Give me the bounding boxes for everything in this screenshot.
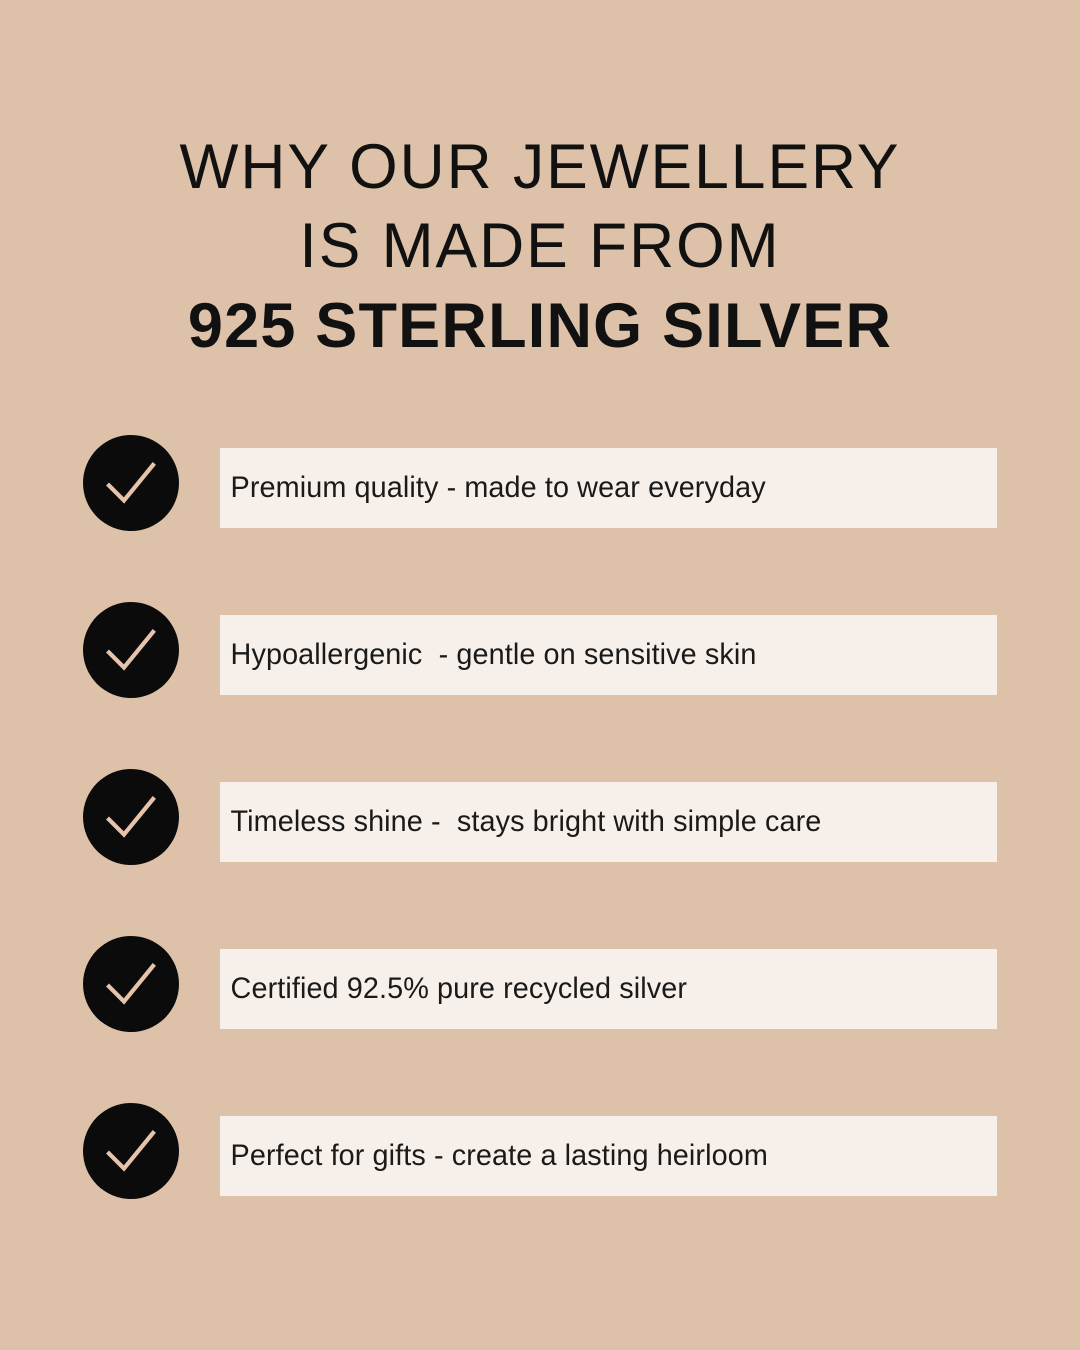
check-icon	[83, 1103, 179, 1199]
list-item: Certified 92.5% pure recycled silver	[0, 936, 1080, 1032]
check-icon	[83, 602, 179, 698]
headline-line-2: IS MADE FROM	[5, 207, 1074, 286]
poster-canvas: WHY OUR JEWELLERY IS MADE FROM 925 STERL…	[0, 0, 1080, 1350]
benefit-bar: Certified 92.5% pure recycled silver	[220, 949, 997, 1029]
benefit-label: Timeless shine - stays bright with simpl…	[220, 805, 821, 839]
list-item: Premium quality - made to wear everyday	[0, 435, 1080, 531]
page-title: WHY OUR JEWELLERY IS MADE FROM 925 STERL…	[0, 128, 1080, 366]
headline-line-1: WHY OUR JEWELLERY	[5, 128, 1074, 207]
list-item: Perfect for gifts - create a lasting hei…	[0, 1103, 1080, 1199]
benefit-bar: Premium quality - made to wear everyday	[220, 448, 997, 528]
benefit-label: Premium quality - made to wear everyday	[220, 471, 766, 505]
benefits-list: Premium quality - made to wear everyday …	[0, 435, 1080, 1199]
list-item: Timeless shine - stays bright with simpl…	[0, 769, 1080, 865]
benefit-bar: Timeless shine - stays bright with simpl…	[220, 782, 997, 862]
benefit-label: Certified 92.5% pure recycled silver	[220, 972, 687, 1006]
benefit-bar: Perfect for gifts - create a lasting hei…	[220, 1116, 997, 1196]
list-item: Hypoallergenic - gentle on sensitive ski…	[0, 602, 1080, 698]
headline-line-3: 925 STERLING SILVER	[0, 287, 1080, 366]
benefit-bar: Hypoallergenic - gentle on sensitive ski…	[220, 615, 997, 695]
check-icon	[83, 769, 179, 865]
benefit-label: Hypoallergenic - gentle on sensitive ski…	[220, 638, 756, 672]
check-icon	[83, 435, 179, 531]
benefit-label: Perfect for gifts - create a lasting hei…	[220, 1139, 768, 1173]
check-icon	[83, 936, 179, 1032]
